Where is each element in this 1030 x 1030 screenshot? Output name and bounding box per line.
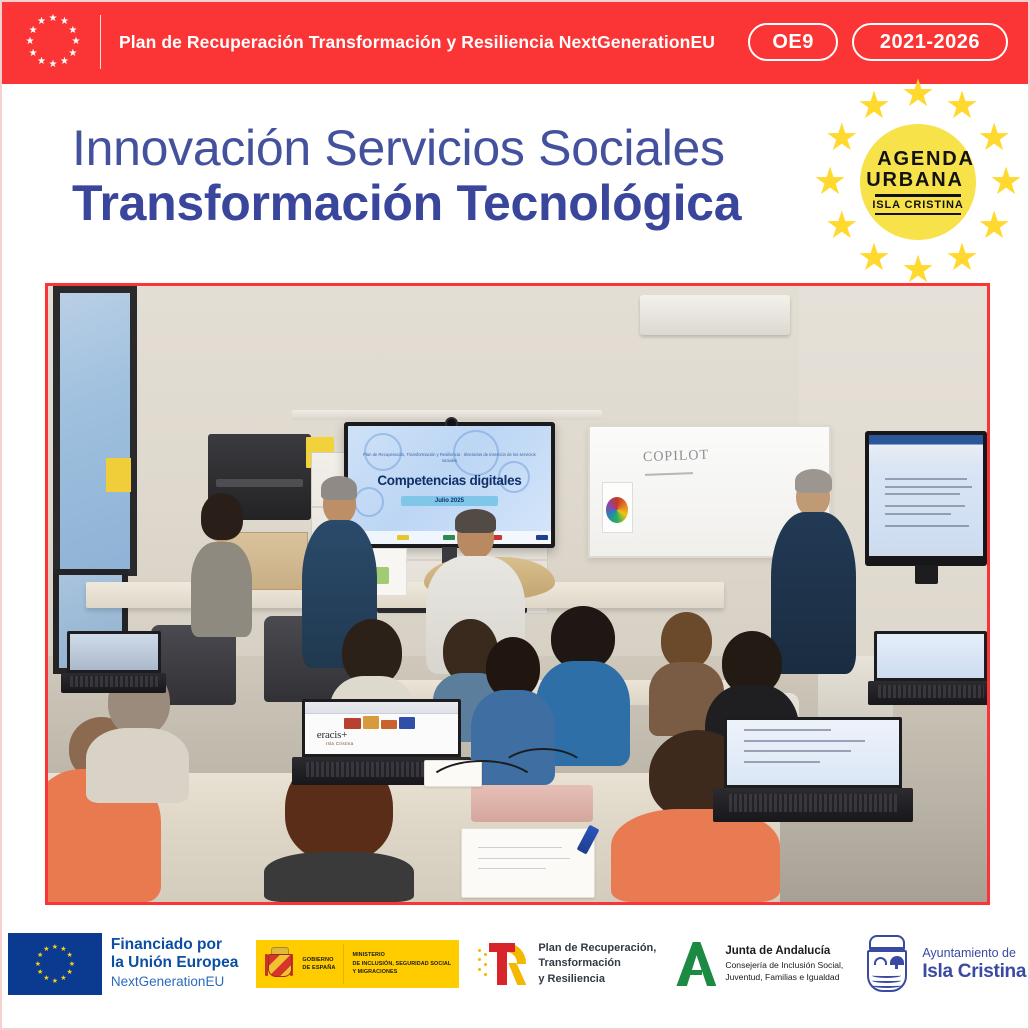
star-icon: ★: [34, 961, 41, 968]
star-icon: ★: [37, 952, 44, 959]
logo-financiado-union-europea: ★★★★★★★★★★★★ Financiado por la Unión Eur…: [8, 933, 238, 995]
agenda-label-isla-cristina: ISLA CRISTINA: [872, 199, 963, 211]
logo-plan-recuperacion: Plan de Recuperación, Transformación y R…: [477, 941, 656, 987]
laptop-site-name: eracis+: [317, 729, 446, 741]
star-icon: ★: [48, 60, 58, 70]
eu-flag-icon: ★★★★★★★★★★★★: [8, 933, 102, 995]
dot-icon: [484, 973, 487, 976]
logo-ayuntamiento-isla-cristina: Ayuntamiento de Isla Cristina: [861, 935, 1026, 993]
junta-line2: Consejería de Inclusión Social,: [725, 959, 843, 971]
star-icon: ★: [48, 14, 58, 24]
star-icon: ★: [68, 26, 78, 36]
tr-monogram-icon: [477, 941, 529, 987]
star-icon: ★: [975, 119, 1013, 157]
dot-icon: [478, 958, 481, 961]
junta-line1: Junta de Andalucía: [725, 944, 843, 959]
agenda-label-agenda: AGENDA: [877, 149, 974, 170]
star-icon: ★: [899, 75, 937, 113]
header-title: Plan de Recuperación Transformación y Re…: [119, 32, 748, 53]
agenda-label-urbana: URBANA: [866, 170, 963, 191]
tr-line2: Transformación: [538, 956, 656, 971]
campaign-poster-card: ★★★★★★★★★★★★ Plan de Recuperación Transf…: [0, 0, 1030, 1030]
junta-line3: Juventud, Familias e Igualdad: [725, 971, 843, 983]
agenda-rule-bottom: [875, 213, 961, 215]
star-icon: ★: [51, 978, 58, 985]
page-title-line2: Transformación Tecnológica: [72, 175, 862, 231]
eu-stars-circle-icon: ★★★★★★★★★★★★: [20, 9, 86, 75]
star-icon: ★: [71, 37, 81, 47]
page-title-block: Innovación Servicios Sociales Transforma…: [72, 122, 862, 231]
spain-coat-of-arms-icon: [264, 947, 294, 981]
dot-icon: [484, 953, 487, 956]
header-divider: [100, 15, 101, 69]
star-icon: ★: [28, 49, 38, 59]
agenda-rule-top: [875, 194, 961, 197]
star-icon: ★: [823, 207, 861, 245]
tr-line1: Plan de Recuperación,: [538, 941, 656, 956]
person-seated-back-left: [189, 502, 255, 638]
dot-icon: [478, 968, 481, 971]
star-icon: ★: [37, 969, 44, 976]
logo-gobierno-de-espana: GOBIERNO DE ESPAÑA MINISTERIO DE INCLUSI…: [256, 940, 459, 988]
footer-logo-strip: ★★★★★★★★★★★★ Financiado por la Unión Eur…: [2, 914, 1030, 1014]
isla-cristina-shield-icon: [861, 935, 913, 993]
agenda-urbana-logo: AGENDA URBANA ISLA CRISTINA ★★★★★★★★★★★★: [806, 88, 1028, 298]
star-icon: ★: [811, 163, 849, 201]
eu-logo-line3: NextGenerationEU: [111, 972, 238, 992]
laptop-far-right: [874, 631, 987, 705]
eu-logo-line2: la Unión Europea: [111, 954, 238, 972]
star-icon: ★: [25, 37, 35, 47]
monitor-screen: [869, 435, 983, 557]
header-bar: ★★★★★★★★★★★★ Plan de Recuperación Transf…: [0, 0, 1030, 84]
gobierno-line1: GOBIERNO: [302, 956, 335, 964]
cable: [499, 748, 588, 795]
laptop-left: [67, 631, 161, 693]
wall-note-left: [106, 458, 130, 492]
monitor-stand: [915, 565, 938, 583]
dot-icon: [484, 963, 487, 966]
event-photo: Plan de Recuperación, Transformación y R…: [48, 286, 987, 902]
laptop-site-subtitle: Isla Cristina: [326, 741, 353, 746]
laptop-eracis-screen: eracis+ Isla Cristina: [305, 702, 459, 755]
ministerio-line2: DE INCLUSIÓN, SEGURIDAD SOCIAL: [352, 960, 451, 968]
badge-period[interactable]: 2021-2026: [852, 23, 1008, 61]
star-icon: ★: [66, 969, 73, 976]
star-icon: ★: [60, 57, 70, 67]
star-icon: ★: [987, 163, 1025, 201]
agenda-urbana-circle: AGENDA URBANA ISLA CRISTINA: [860, 124, 976, 240]
andalucia-a-icon: [674, 942, 716, 986]
ayuntamiento-line2: Isla Cristina: [922, 961, 1026, 984]
desktop-monitor: [865, 431, 987, 567]
notepad: [461, 828, 594, 898]
gobierno-line2: DE ESPAÑA: [302, 964, 335, 972]
slide-subtitle: Plan de Recuperación, Transformación y R…: [360, 452, 539, 465]
dot-icon: [478, 949, 481, 952]
star-icon: ★: [60, 975, 67, 982]
star-icon: ★: [66, 952, 73, 959]
star-icon: ★: [51, 944, 58, 951]
badge-objective[interactable]: OE9: [748, 23, 838, 61]
ayuntamiento-line1: Ayuntamiento de: [922, 945, 1026, 961]
whiteboard-underline: [645, 472, 693, 475]
whiteboard-text: COPILOT: [642, 447, 709, 465]
ministerio-line1: MINISTERIO: [352, 951, 451, 959]
star-icon: ★: [43, 975, 50, 982]
logo-junta-de-andalucia: Junta de Andalucía Consejería de Inclusi…: [674, 942, 843, 986]
page-title-line1: Innovación Servicios Sociales: [72, 122, 862, 175]
air-conditioner: [640, 295, 790, 335]
star-icon: ★: [43, 946, 50, 953]
eu-logo-line1: Financiado por: [111, 936, 238, 954]
star-icon: ★: [68, 961, 75, 968]
window-left: [53, 286, 138, 576]
gobierno-divider: [343, 944, 344, 984]
tr-line3: y Resiliencia: [538, 972, 656, 987]
slide-date-chip: Julio 2025: [401, 496, 499, 506]
slide-title: Competencias digitales: [348, 473, 551, 488]
star-icon: ★: [37, 17, 47, 27]
laptop-right: [724, 717, 902, 822]
star-icon: ★: [943, 239, 981, 277]
star-icon: ★: [855, 87, 893, 125]
header-badges: OE9 2021-2026: [748, 23, 1008, 61]
whiteboard-poster: [602, 482, 633, 533]
event-photo-frame: Plan de Recuperación, Transformación y R…: [45, 283, 990, 905]
ministerio-line3: Y MIGRACIONES: [352, 968, 451, 976]
